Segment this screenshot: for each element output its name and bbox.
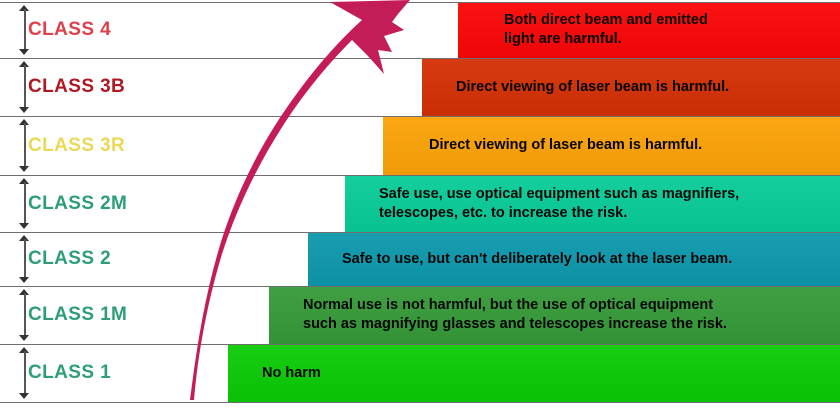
arrow-shaft [24,182,26,225]
arrowhead-down-icon [19,277,29,283]
class-label-class-1m: CLASS 1M [28,304,127,326]
description-line: telescopes, etc. to increase the risk. [379,204,739,223]
hazard-description-class-3r: Direct viewing of laser beam is harmful. [383,136,710,155]
class-label-class-3b: CLASS 3B [28,76,125,98]
class-row-class-1m: CLASS 1M [0,286,232,344]
arrow-shaft [24,293,26,337]
hazard-band-class-3b: Direct viewing of laser beam is harmful. [422,58,840,116]
class-row-class-2: CLASS 2 [0,232,232,286]
row-extent-arrow-class-2 [18,235,31,283]
row-extent-arrow-class-3b [18,61,31,113]
hazard-description-class-4: Both direct beam and emittedlight are ha… [458,11,716,48]
description-line: Direct viewing of laser beam is harmful. [429,136,702,155]
arrow-shaft [24,351,26,395]
class-label-class-2m: CLASS 2M [28,193,127,215]
description-line: Safe to use, but can't deliberately look… [342,250,732,269]
arrowhead-down-icon [19,223,29,229]
laser-class-diagram: Both direct beam and emittedlight are ha… [0,0,840,412]
hazard-band-class-3r: Direct viewing of laser beam is harmful. [383,116,840,175]
row-extent-arrow-class-2m [18,178,31,229]
class-row-class-2m: CLASS 2M [0,175,232,232]
hazard-band-class-2: Safe to use, but can't deliberately look… [308,232,840,286]
class-label-class-2: CLASS 2 [28,248,111,270]
arrowhead-down-icon [19,166,29,172]
arrow-shaft [24,9,26,51]
row-extent-arrow-class-1 [18,347,31,399]
row-extent-arrow-class-1m [18,289,31,341]
description-line: light are harmful. [504,30,708,49]
row-divider-7 [0,402,840,403]
hazard-band-class-1m: Normal use is not harmful, but the use o… [269,286,840,344]
hazard-description-class-1m: Normal use is not harmful, but the use o… [269,296,735,333]
class-label-class-1: CLASS 1 [28,362,111,384]
hazard-band-class-2m: Safe use, use optical equipment such as … [345,175,840,232]
arrow-shaft [24,65,26,109]
arrowhead-down-icon [19,107,29,113]
hazard-description-class-2: Safe to use, but can't deliberately look… [308,250,740,269]
hazard-band-class-1: No harm [228,344,840,402]
class-label-class-4: CLASS 4 [28,19,111,41]
arrowhead-down-icon [19,335,29,341]
arrowhead-down-icon [19,393,29,399]
description-line: Safe use, use optical equipment such as … [379,185,739,204]
arrow-shaft [24,239,26,279]
row-extent-arrow-class-4 [18,5,31,55]
description-line: Normal use is not harmful, but the use o… [303,296,727,315]
class-row-class-3r: CLASS 3R [0,116,232,175]
description-line: Both direct beam and emitted [504,11,708,30]
description-line: such as magnifying glasses and telescope… [303,315,727,334]
row-extent-arrow-class-3r [18,119,31,172]
description-line: Direct viewing of laser beam is harmful. [456,78,729,97]
class-row-class-4: CLASS 4 [0,2,232,58]
class-row-class-3b: CLASS 3B [0,58,232,116]
hazard-description-class-3b: Direct viewing of laser beam is harmful. [422,78,737,97]
class-label-class-3r: CLASS 3R [28,135,125,157]
hazard-band-class-4: Both direct beam and emittedlight are ha… [458,2,840,58]
hazard-description-class-2m: Safe use, use optical equipment such as … [345,185,747,222]
description-line: No harm [262,364,321,383]
arrowhead-down-icon [19,49,29,55]
class-row-class-1: CLASS 1 [0,344,232,402]
hazard-description-class-1: No harm [228,364,329,383]
arrow-shaft [24,123,26,168]
